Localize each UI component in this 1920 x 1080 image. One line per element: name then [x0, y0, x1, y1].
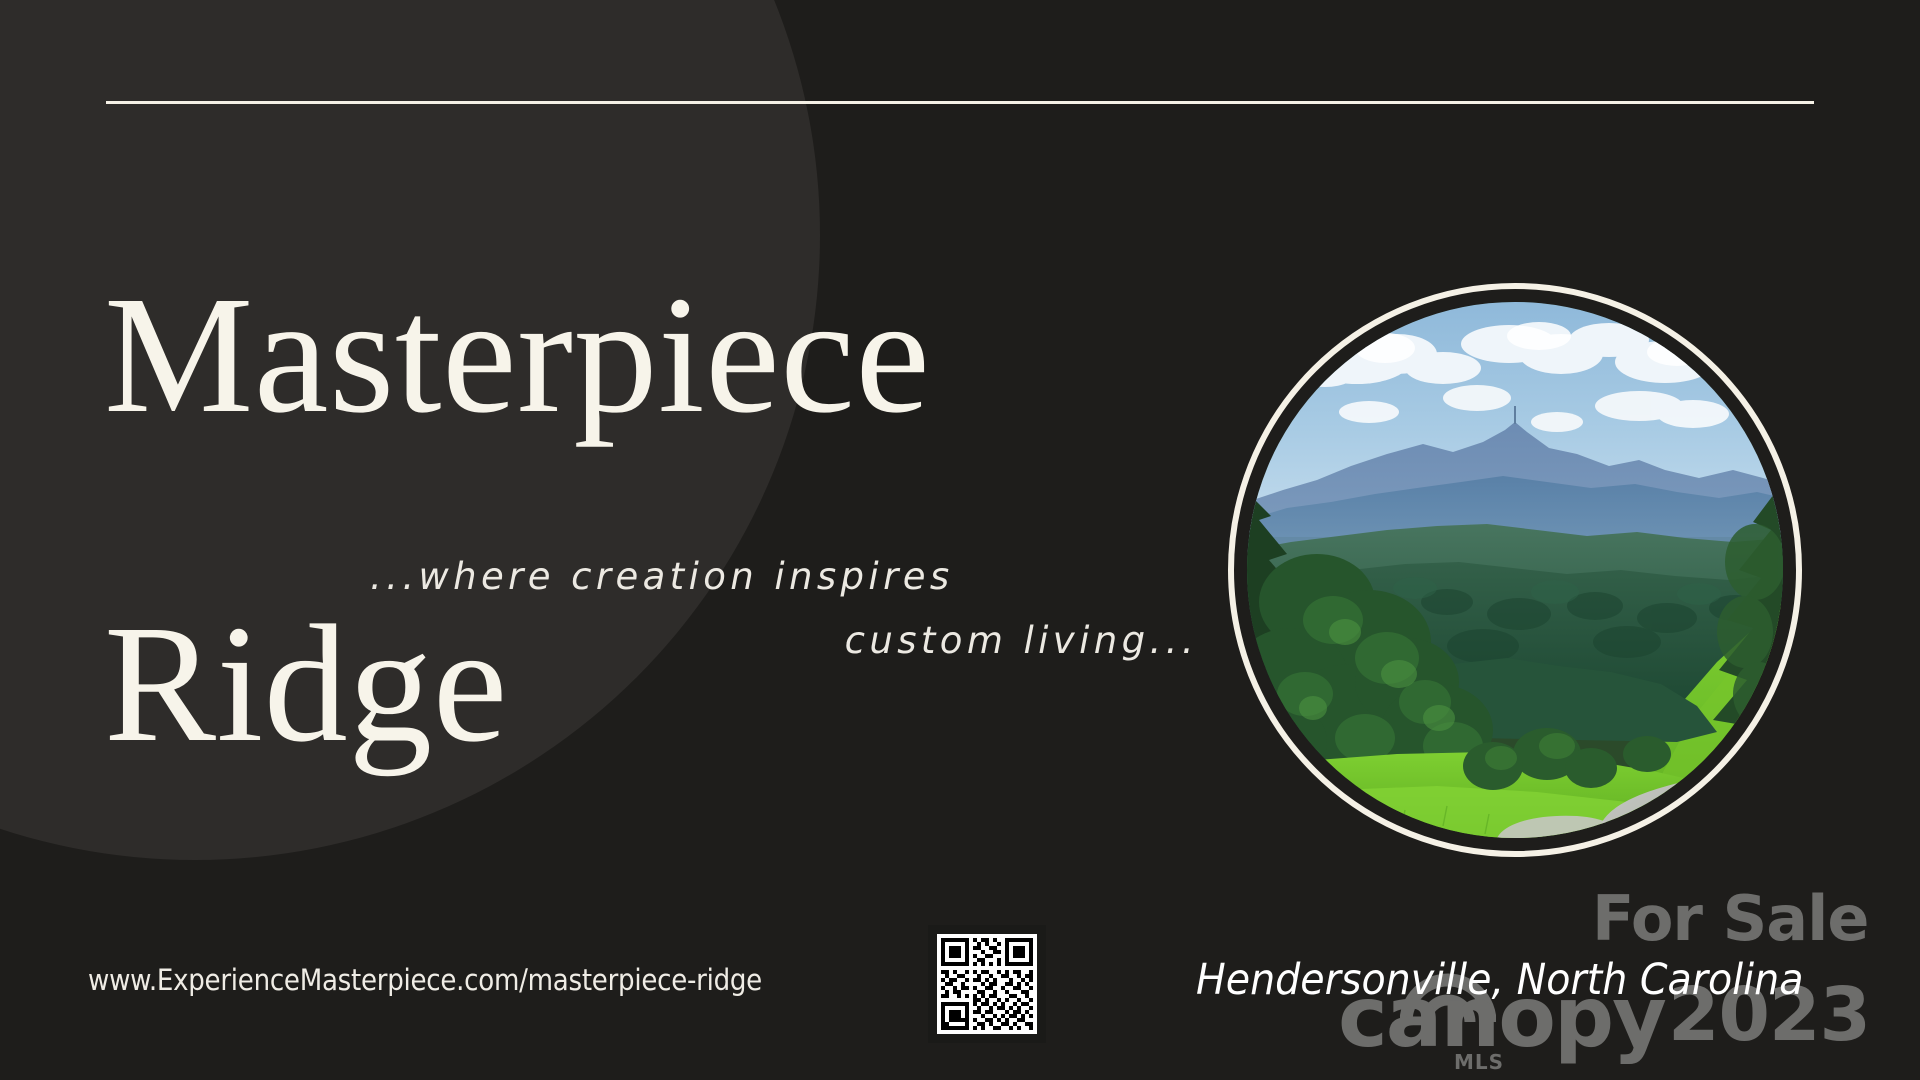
property-photo [1228, 283, 1802, 857]
tagline: ...where creation inspires custom living… [370, 545, 1200, 672]
tagline-line-2: custom living... [370, 609, 1200, 673]
listing-banner: Masterpiece Ridge ...where creation insp… [0, 0, 1920, 1080]
qr-code-bitmap [937, 934, 1037, 1034]
qr-modules [937, 934, 1037, 1034]
tagline-line-1: ...where creation inspires [370, 545, 1200, 609]
property-location: Hendersonville, North Carolina [1196, 955, 1803, 1005]
watermark-mls: MLS [1454, 1050, 1504, 1074]
photo-ring-frame [1228, 283, 1802, 857]
page-title: Masterpiece Ridge [104, 108, 1104, 931]
headline-line-1: Masterpiece [104, 273, 1104, 438]
watermark-for-sale: For Sale [1592, 882, 1868, 955]
horizontal-rule-divider [106, 101, 1814, 104]
website-url[interactable]: www.ExperienceMasterpiece.com/masterpiec… [88, 963, 762, 997]
qr-code-icon[interactable] [928, 925, 1046, 1043]
